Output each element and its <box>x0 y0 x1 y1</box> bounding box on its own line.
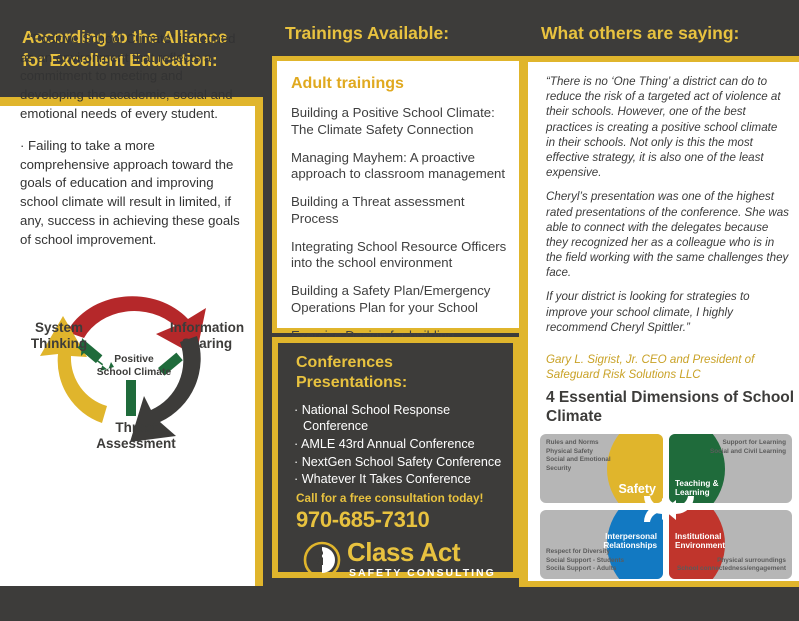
right-bottom-band <box>519 587 799 621</box>
class-act-mark-icon <box>303 541 341 579</box>
middle-headline: Trainings Available: <box>285 23 515 44</box>
left-paragraph-1: · “Positive School Climate” is defined a… <box>20 30 246 124</box>
institutional-label: Institutional Environment <box>675 532 737 550</box>
left-gold-right-edge <box>255 106 263 586</box>
dimension-quadrant-institutional-environment: Physical surroundings School connectedne… <box>669 510 792 579</box>
training-item: Building a Safety Plan/Emergency Operati… <box>291 283 515 317</box>
dimension-quadrant-safety: Rules and Norms Physical Safety Social a… <box>540 434 663 503</box>
left-paragraph-2: · Failing to take a more comprehensive a… <box>20 137 246 249</box>
teaching-label: Teaching & Learning <box>675 479 733 497</box>
cycle-node-system-thinking: System Thinking <box>16 320 102 351</box>
quote-paragraph: Cheryl’s presentation was one of the hig… <box>546 189 789 280</box>
training-item: Building a Positive School Climate: The … <box>291 105 515 139</box>
middle-bottom-band <box>263 578 519 621</box>
right-headline: What others are saying: <box>541 23 791 44</box>
adult-trainings-subhead: Adult trainings <box>291 75 404 93</box>
quote-paragraph: “There is no ‘One Thing’ a district can … <box>546 74 789 180</box>
training-item: Managing Mayhem: A proactive approach to… <box>291 150 515 184</box>
left-panel: According to the Alliance for Excellent … <box>0 0 263 621</box>
trainings-card: Adult trainings Building a Positive Scho… <box>277 61 519 328</box>
trainings-list: Building a Positive School Climate: The … <box>291 105 515 372</box>
phone-number[interactable]: 970-685-7310 <box>296 507 429 533</box>
interpersonal-detail: Respect for Diversity Social Support - S… <box>546 548 624 574</box>
right-panel: What others are saying: “There is no ‘On… <box>519 0 799 621</box>
four-dimensions-diagram: Rules and Norms Physical Safety Social a… <box>540 434 798 581</box>
interpersonal-label: Interpersonal Relationships <box>595 532 657 550</box>
institutional-detail: Physical surroundings School connectedne… <box>677 557 786 574</box>
quote-paragraph: If your district is looking for strategi… <box>546 289 789 335</box>
dimensions-title: 4 Essential Dimensions of School Climate <box>546 389 796 426</box>
trainings-card-frame: Adult trainings Building a Positive Scho… <box>272 56 519 333</box>
middle-panel: Trainings Available: Adult trainings Bui… <box>263 0 519 621</box>
left-bottom-band <box>0 586 263 621</box>
conferences-title: Conferences Presentations: <box>296 353 496 393</box>
dimension-quadrant-interpersonal-relationships: Respect for Diversity Social Support - S… <box>540 510 663 579</box>
testimonial-quote: “There is no ‘One Thing’ a district can … <box>546 74 789 344</box>
training-item: Building a Threat assessment Process <box>291 194 515 228</box>
cycle-node-threat-assessment: Threat Assessment <box>86 420 186 451</box>
testimonial-attribution: Gary L. Sigrist, Jr. CEO and President o… <box>546 352 789 383</box>
cycle-node-information-sharing: Information Sharing <box>162 320 252 351</box>
consultation-cta: Call for a free consultation today! <box>296 491 483 505</box>
cycle-center-label: Positive School Climate <box>96 354 172 380</box>
training-item: Integrating School Resource Officers int… <box>291 239 515 273</box>
logo-wordmark: Class Act <box>347 537 460 568</box>
conference-item: · AMLE 43rd Annual Conference <box>294 437 502 453</box>
right-body: “There is no ‘One Thing’ a district can … <box>528 62 799 581</box>
safety-label: Safety <box>618 483 656 497</box>
right-gold-left-edge <box>519 56 528 587</box>
dimension-quadrant-teaching-and-learning: Support for Learning Social and Civil Le… <box>669 434 792 503</box>
conferences-card: Conferences Presentations: · National Sc… <box>278 343 513 572</box>
safety-detail: Rules and Norms Physical Safety Social a… <box>546 439 611 474</box>
cycle-spoke-down <box>126 380 136 416</box>
teaching-detail: Support for Learning Social and Civil Le… <box>710 439 786 456</box>
conference-item: · National School Response Conference <box>294 403 502 435</box>
conferences-card-frame: Conferences Presentations: · National Sc… <box>272 337 519 578</box>
conference-item: · NextGen School Safety Conference <box>294 455 502 471</box>
positive-school-climate-cycle-diagram: System Thinking Information Sharing Thre… <box>10 272 255 472</box>
brochure-page: According to the Alliance for Excellent … <box>0 0 799 621</box>
conferences-list: · National School Response Conference · … <box>294 403 502 490</box>
conference-item: · Whatever It Takes Conference <box>294 472 502 488</box>
